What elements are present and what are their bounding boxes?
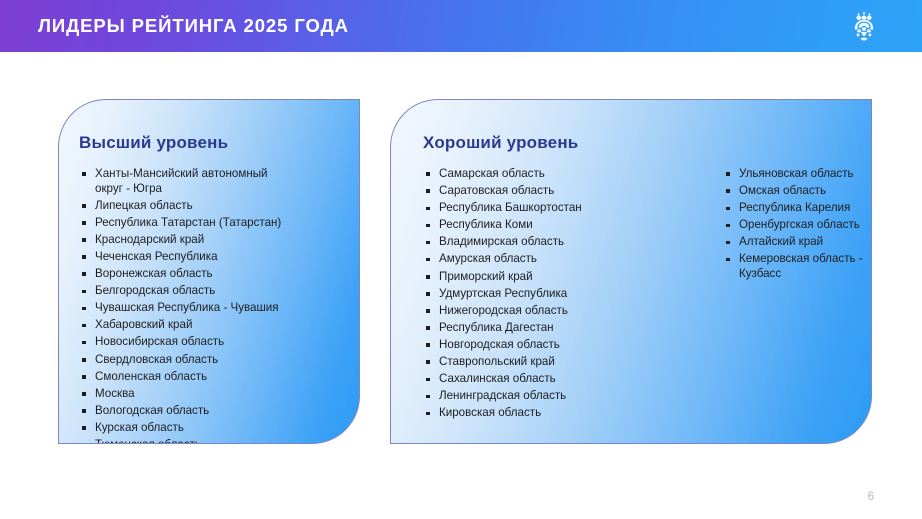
list-item: Самарская область bbox=[425, 167, 643, 182]
list-item: Липецкая область bbox=[81, 199, 299, 214]
list-item: Ленинградская область bbox=[425, 389, 643, 404]
list-item: Оренбургская область bbox=[725, 218, 872, 233]
card-high-level-title: Высший уровень bbox=[79, 133, 359, 153]
list-item: Хабаровский край bbox=[81, 318, 299, 333]
list-item: Тюменская область bbox=[81, 438, 299, 444]
slide: ЛИДЕРЫ РЕЙТИНГА 2025 ГОДА bbox=[0, 0, 922, 519]
list-item: Приморский край bbox=[425, 270, 643, 285]
list-item: Вологодская область bbox=[81, 404, 299, 419]
list-item: Новгородская область bbox=[425, 338, 643, 353]
list-item: Республика Карелия bbox=[725, 201, 872, 216]
list-item: Кировская область bbox=[425, 406, 643, 421]
list-item: Удмуртская Республика bbox=[425, 287, 643, 302]
list-item: Омская область bbox=[725, 184, 872, 199]
list-item: Москва bbox=[81, 387, 299, 402]
list-item: Республика Башкортостан bbox=[425, 201, 643, 216]
header-bar: ЛИДЕРЫ РЕЙТИНГА 2025 ГОДА bbox=[0, 0, 922, 52]
card-good-level: Хороший уровень Самарская областьСаратов… bbox=[390, 99, 872, 444]
russian-coat-of-arms-icon bbox=[849, 10, 879, 42]
list-item: Краснодарский край bbox=[81, 233, 299, 248]
list-item: Свердловская область bbox=[81, 353, 299, 368]
list-item: Республика Татарстан (Татарстан) bbox=[81, 216, 299, 231]
list-item: Сахалинская область bbox=[425, 372, 643, 387]
list-item: Чеченская Республика bbox=[81, 250, 299, 265]
list-item: Республика Коми bbox=[425, 218, 643, 233]
list-item: Ставропольский край bbox=[425, 355, 643, 370]
list-item: Амурская область bbox=[425, 252, 643, 267]
list-item: Саратовская область bbox=[425, 184, 643, 199]
list-item: Белгородская область bbox=[81, 284, 299, 299]
page-number: 6 bbox=[868, 491, 874, 503]
list-item: Кемеровская область - Кузбасс bbox=[725, 252, 872, 281]
list-item: Новосибирская область bbox=[81, 335, 299, 350]
card-high-level-columns: Ханты-Мансийский автономный округ - Югра… bbox=[59, 153, 359, 444]
list-item: Республика Дагестан bbox=[425, 321, 643, 336]
page-title: ЛИДЕРЫ РЕЙТИНГА 2025 ГОДА bbox=[38, 15, 349, 37]
region-list-good-level-col1: Самарская областьСаратовская областьРесп… bbox=[425, 167, 643, 423]
list-item: Смоленская область bbox=[81, 370, 299, 385]
list-item: Воронежская область bbox=[81, 267, 299, 282]
list-item: Чувашская Республика - Чувашия bbox=[81, 301, 299, 316]
list-item: Владимирская область bbox=[425, 235, 643, 250]
card-good-level-columns: Самарская областьСаратовская областьРесп… bbox=[391, 153, 871, 423]
list-item: Алтайский край bbox=[725, 235, 872, 250]
list-item: Курская область bbox=[81, 421, 299, 436]
region-list-good-level-col2: Ульяновская областьОмская областьРеспубл… bbox=[725, 167, 872, 423]
column-spacer bbox=[643, 167, 725, 423]
card-high-level: Высший уровень Ханты-Мансийский автономн… bbox=[58, 99, 360, 444]
region-list-high-level: Ханты-Мансийский автономный округ - Югра… bbox=[81, 167, 299, 444]
list-item: Нижегородская область bbox=[425, 304, 643, 319]
list-item: Ульяновская область bbox=[725, 167, 872, 182]
card-good-level-title: Хороший уровень bbox=[423, 133, 871, 153]
list-item: Ханты-Мансийский автономный округ - Югра bbox=[81, 167, 299, 196]
